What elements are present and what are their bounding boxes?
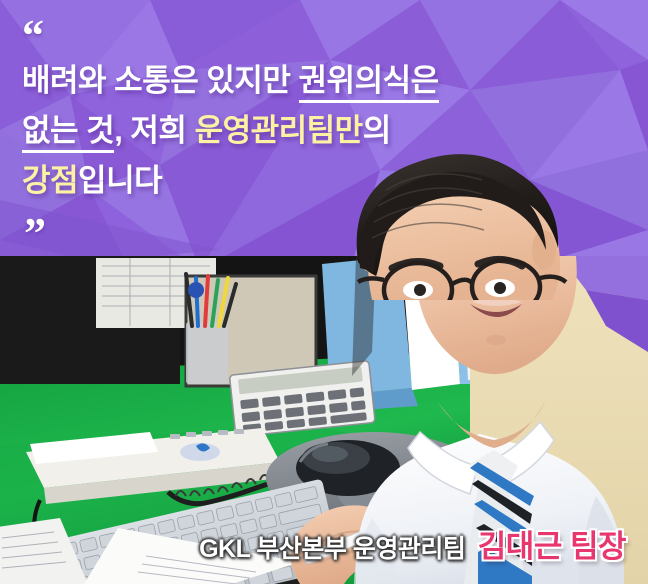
credit-caption: GKL 부산본부 운영관리팀 김대근 팀장 bbox=[0, 521, 648, 566]
quote-line-3: 강점입니다 bbox=[22, 156, 492, 206]
quote-line-1: 배려와 소통은 있지만 권위의식은 bbox=[22, 56, 492, 106]
quote-segment-underline: 없는 것 bbox=[22, 113, 114, 153]
quote-open-mark: “ bbox=[22, 14, 43, 58]
quote-segment-plain: 배려와 소통은 있지만 bbox=[22, 63, 299, 98]
quote-close-mark: ” bbox=[24, 212, 45, 256]
quote-text-block: 배려와 소통은 있지만 권위의식은없는 것, 저희 운영관리팀만의강점입니다 bbox=[22, 56, 492, 206]
credit-person-name: 김대근 팀장 bbox=[478, 529, 626, 564]
quote-line-2: 없는 것, 저희 운영관리팀만의 bbox=[22, 106, 492, 156]
quote-segment-plain: 의 bbox=[363, 113, 391, 148]
interview-quote-banner: “ 배려와 소통은 있지만 권위의식은없는 것, 저희 운영관리팀만의강점입니다… bbox=[0, 0, 648, 584]
quote-segment-highlight: 운영관리팀만 bbox=[195, 113, 363, 148]
credit-organization: GKL 부산본부 운영관리팀 bbox=[199, 535, 465, 563]
quote-segment-plain: 입니다 bbox=[78, 163, 162, 198]
quote-segment-highlight: 강점 bbox=[22, 163, 78, 198]
quote-segment-underline: 권위의식은 bbox=[299, 63, 439, 103]
quote-segment-plain: , 저희 bbox=[114, 113, 194, 148]
